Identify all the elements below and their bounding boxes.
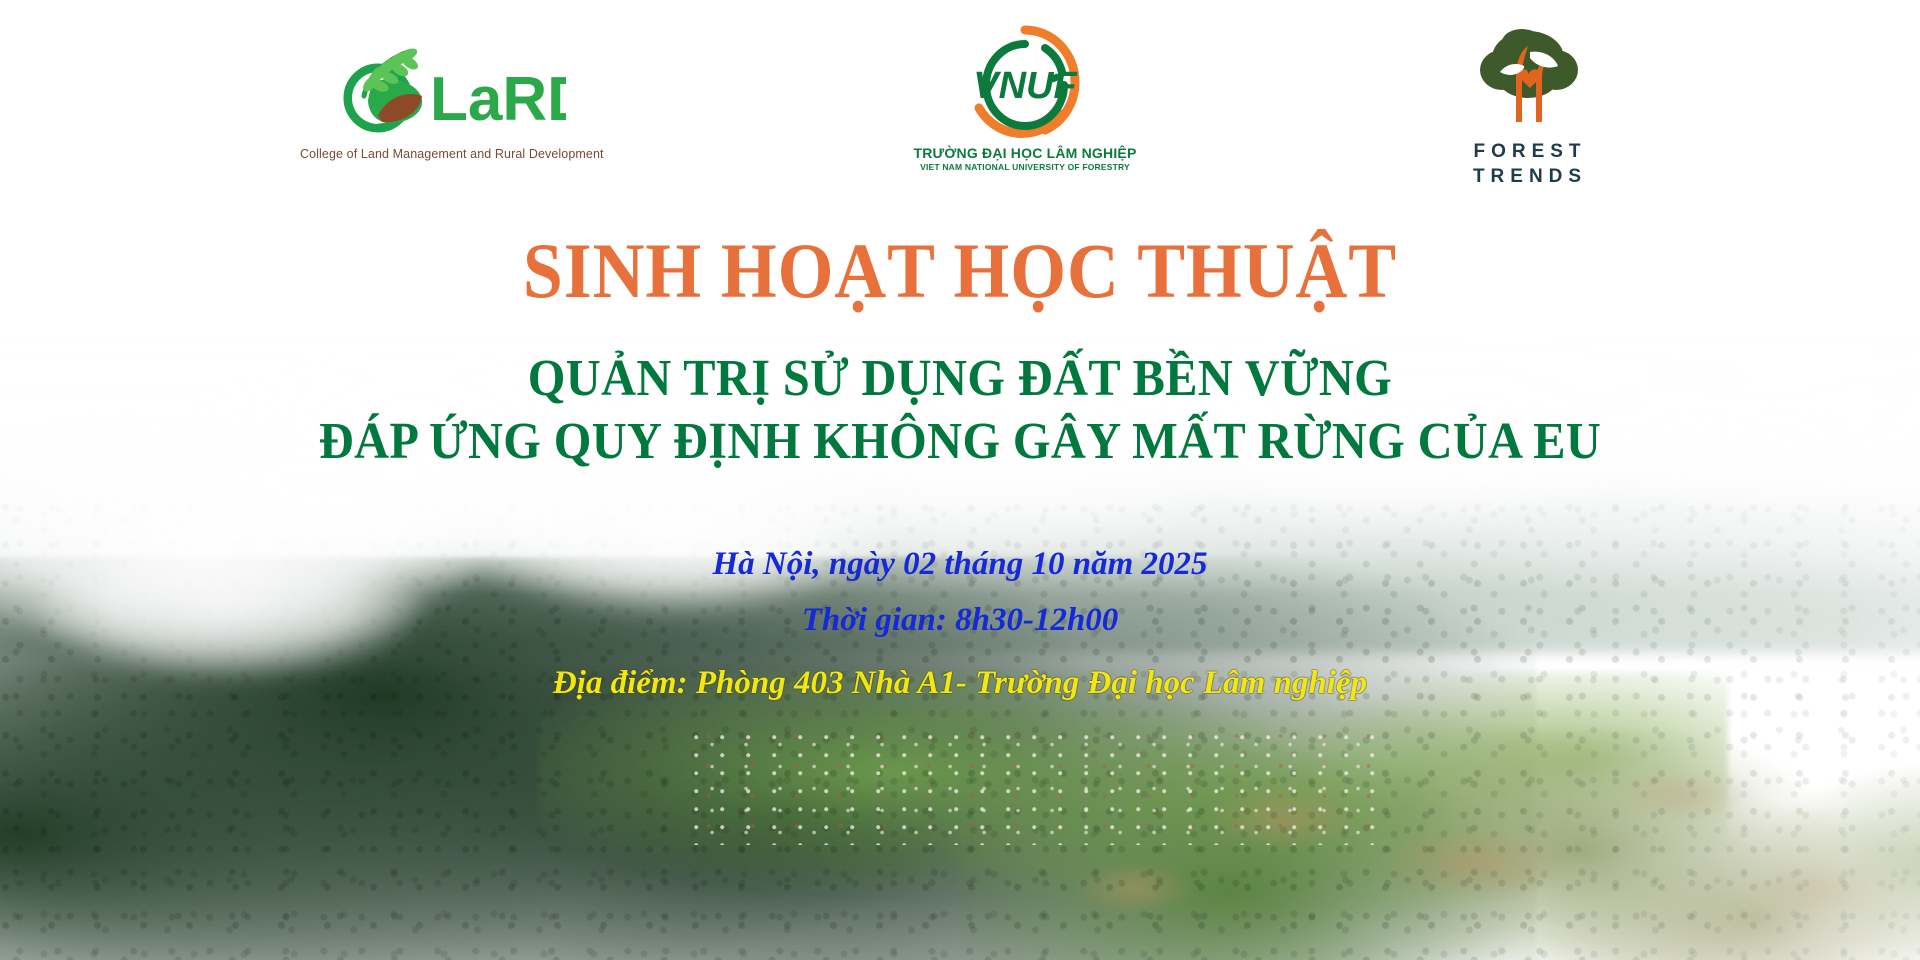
vnuf-caption-english: VIET NAM NATIONAL UNIVERSITY OF FORESTRY [900,162,1150,172]
event-time: Thời gian: 8h30-12h00 [0,596,1920,646]
forest-trends-logo: FOREST TRENDS [1420,26,1640,189]
headline-block: SINH HOẠT HỌC THUẬT QUẢN TRỊ SỬ DỤNG ĐẤT… [0,232,1920,473]
poster-subtitle-line-2: ĐÁP ỨNG QUY ĐỊNH KHÔNG GÂY MẤT RỪNG CỦA … [67,411,1853,472]
vnuf-emblem-icon: VNUF [949,22,1101,144]
poster-main-title: SINH HOẠT HỌC THUẬT [77,232,1843,310]
forest-trends-word-bottom: TRENDS [1420,164,1640,189]
lard-logo: LaRD College of Land Management and Rura… [300,36,600,161]
poster-content: LaRD College of Land Management and Rura… [0,0,1920,960]
event-details-block: Hà Nội, ngày 02 tháng 10 năm 2025 Thời g… [0,540,1920,709]
event-date: Hà Nội, ngày 02 tháng 10 năm 2025 [0,540,1920,590]
poster-subtitle-line-1: QUẢN TRỊ SỬ DỤNG ĐẤT BỀN VỮNG [67,348,1853,409]
vnuf-caption-vietnamese: TRƯỜNG ĐẠI HỌC LÂM NGHIỆP [900,145,1150,161]
lard-emblem-icon: LaRD [334,36,566,140]
forest-trends-tree-icon [1464,26,1596,134]
lard-caption: College of Land Management and Rural Dev… [300,147,600,161]
forest-trends-word-top: FOREST [1420,139,1640,164]
seminar-poster: LaRD College of Land Management and Rura… [0,0,1920,960]
event-venue: Địa điểm: Phòng 403 Nhà A1- Trường Đại h… [0,659,1920,709]
logo-row: LaRD College of Land Management and Rura… [0,14,1920,174]
vnuf-logo: VNUF TRƯỜNG ĐẠI HỌC LÂM NGHIỆP VIET NAM … [900,22,1150,172]
vnuf-wordmark: VNUF [973,65,1078,107]
lard-wordmark: LaRD [430,65,566,134]
